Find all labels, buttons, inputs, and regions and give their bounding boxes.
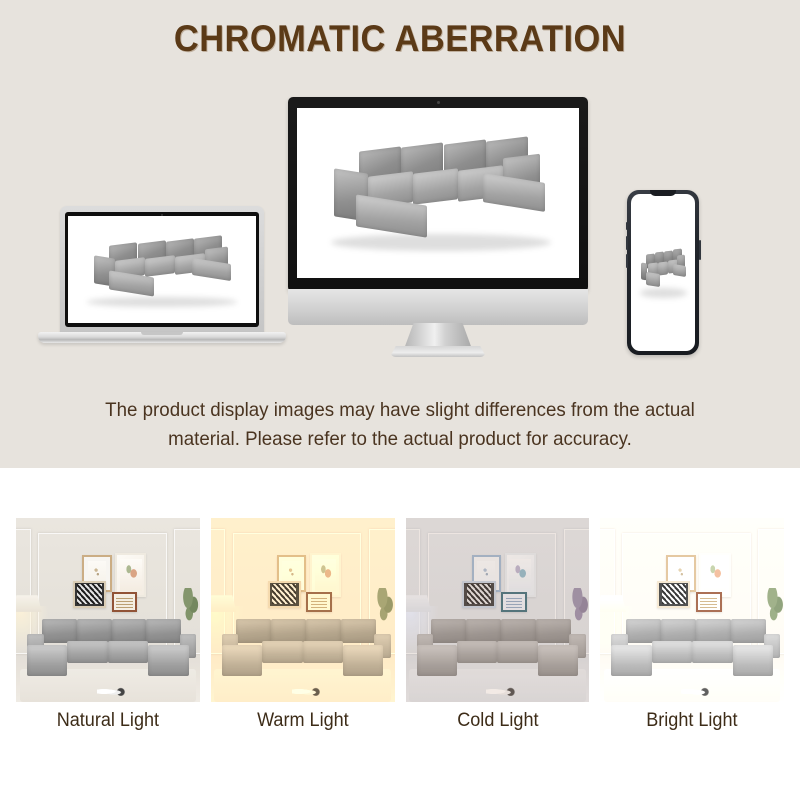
variant-cold-light[interactable]: Cold Light	[406, 518, 590, 702]
phone-mute-switch[interactable]	[626, 222, 628, 230]
floor-lamp-icon	[600, 595, 626, 612]
room-scene	[406, 518, 590, 702]
floor-clutter	[681, 687, 710, 696]
desktop-chin	[288, 289, 588, 325]
wall-art-frame-3	[73, 581, 106, 609]
bottom-section: Natural Light	[0, 468, 800, 800]
sofa-seat-1	[67, 641, 107, 663]
desktop-bezel	[288, 97, 588, 292]
desktop-screen	[297, 108, 579, 278]
sofa-image-laptop	[68, 216, 256, 323]
sofa-chaise-right	[343, 645, 383, 676]
sofa-seat-1	[457, 641, 497, 663]
laptop-base	[38, 332, 286, 343]
laptop-screen	[68, 216, 256, 323]
sofa-back-1	[236, 619, 271, 643]
sofa-chaise-left	[417, 645, 457, 676]
wall-art-frame-2	[505, 553, 536, 597]
sofa-seat-2	[497, 641, 537, 663]
room-scene	[211, 518, 395, 702]
sofa-back-3	[306, 619, 341, 643]
sofa-image-phone	[631, 194, 695, 351]
wall-art-frame-4	[112, 592, 138, 612]
top-section: CHROMATIC ABERRATION	[0, 0, 800, 468]
sofa-chaise-right	[148, 645, 188, 676]
sofa-seat-1	[652, 641, 692, 663]
phone-screen	[631, 194, 695, 351]
sofa-back-3	[501, 619, 536, 643]
sofa-back-3	[112, 619, 147, 643]
sofa-chaise-right	[538, 645, 578, 676]
sofa-back-4	[341, 619, 376, 643]
sofa-chaise-right	[733, 645, 773, 676]
product-infographic-page: CHROMATIC ABERRATION	[0, 0, 800, 800]
lighting-variant-grid: Natural Light	[16, 518, 784, 702]
device-phone	[627, 190, 699, 355]
desktop-camera-icon	[437, 101, 440, 104]
floor-clutter	[292, 687, 321, 696]
floor-lamp-icon	[406, 595, 432, 612]
phone-power-button[interactable]	[699, 240, 701, 260]
sofa-back-2	[77, 619, 112, 643]
sofa-chaise-left	[222, 645, 262, 676]
sofa-back-1	[626, 619, 661, 643]
sofa-seat-1	[262, 641, 302, 663]
sofa-back-2	[271, 619, 306, 643]
laptop-lid	[60, 206, 264, 334]
desktop-stand-neck	[404, 323, 472, 349]
wall-art-frame-4	[501, 592, 527, 612]
page-title: CHROMATIC ABERRATION	[28, 18, 772, 60]
floor-clutter	[97, 687, 126, 696]
phone-volume-down-button[interactable]	[626, 254, 628, 268]
sofa-seat-2	[108, 641, 148, 663]
desktop-stand-foot	[390, 346, 486, 357]
device-desktop-monitor	[288, 97, 588, 360]
wall-art-frame-2	[699, 553, 730, 597]
sofa-back-1	[431, 619, 466, 643]
disclaimer-caption: The product display images may have slig…	[74, 396, 727, 454]
room-photo-bright-light	[600, 518, 784, 702]
phone-volume-up-button[interactable]	[626, 236, 628, 250]
variant-label-bright-light: Bright Light	[605, 710, 780, 732]
phone-body	[627, 190, 699, 355]
variant-label-natural-light: Natural Light	[21, 710, 196, 732]
wall-art-frame-3	[462, 581, 495, 609]
sofa-back-4	[731, 619, 766, 643]
phone-notch	[650, 190, 676, 196]
sofa-back-4	[536, 619, 571, 643]
wall-art-frame-3	[268, 581, 301, 609]
room-photo-natural-light	[16, 518, 200, 702]
sofa-chaise-left	[27, 645, 67, 676]
variant-warm-light[interactable]: Warm Light	[211, 518, 395, 702]
room-photo-cold-light	[406, 518, 590, 702]
variant-label-cold-light: Cold Light	[410, 710, 585, 732]
wall-art-frame-2	[115, 553, 146, 597]
room-photo-warm-light	[211, 518, 395, 702]
sofa-back-4	[146, 619, 181, 643]
laptop-bezel	[65, 212, 259, 327]
variant-label-warm-light: Warm Light	[215, 710, 390, 732]
device-laptop	[38, 206, 286, 354]
laptop-trackpad-notch	[141, 332, 183, 335]
floor-clutter	[486, 687, 515, 696]
variant-bright-light[interactable]: Bright Light	[600, 518, 784, 702]
wall-art-frame-2	[310, 553, 341, 597]
sofa-seat-2	[692, 641, 732, 663]
variant-natural-light[interactable]: Natural Light	[16, 518, 200, 702]
sofa-back-3	[696, 619, 731, 643]
sofa-back-2	[661, 619, 696, 643]
floor-lamp-icon	[211, 595, 237, 612]
wall-art-frame-4	[306, 592, 332, 612]
sofa-chaise-left	[611, 645, 651, 676]
room-scene	[600, 518, 784, 702]
sofa-seat-2	[303, 641, 343, 663]
wall-art-frame-4	[696, 592, 722, 612]
sofa-back-2	[466, 619, 501, 643]
floor-lamp-icon	[16, 595, 42, 612]
sofa-image-desktop	[297, 108, 579, 278]
room-scene	[16, 518, 200, 702]
wall-art-frame-3	[657, 581, 690, 609]
sofa-back-1	[42, 619, 77, 643]
